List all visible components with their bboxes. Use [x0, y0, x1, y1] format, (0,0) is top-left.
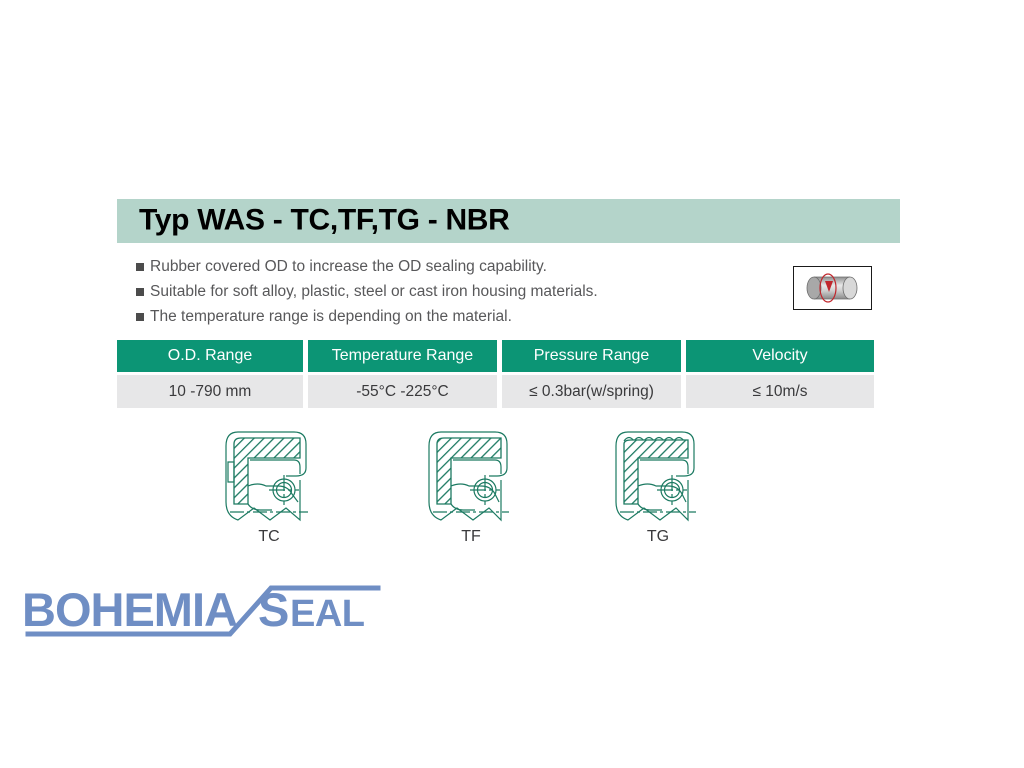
square-bullet-icon: [136, 288, 144, 296]
rotating-shaft-icon: [793, 266, 872, 310]
table-cell: -55°C -225°C: [308, 375, 497, 408]
seal-diagram-tc: TC: [208, 424, 330, 550]
list-item-label: The temperature range is depending on th…: [150, 307, 512, 326]
table-column-velocity: Velocity ≤ 10m/s: [686, 340, 874, 408]
column-header: Pressure Range: [502, 340, 681, 372]
seal-label-tf: TF: [415, 528, 527, 546]
column-header: O.D. Range: [117, 340, 303, 372]
title-band: Typ WAS - TC,TF,TG - NBR: [117, 199, 900, 243]
seal-diagram-tg: TG: [602, 424, 714, 550]
table-cell: 10 -790 mm: [117, 375, 303, 408]
table-column-od-range: O.D. Range 10 -790 mm: [117, 340, 303, 408]
table-column-pressure-range: Pressure Range ≤ 0.3bar(w/spring): [502, 340, 681, 408]
square-bullet-icon: [136, 263, 144, 271]
table-cell: ≤ 0.3bar(w/spring): [502, 375, 681, 408]
list-item: Rubber covered OD to increase the OD sea…: [136, 257, 756, 278]
page-title: Typ WAS - TC,TF,TG - NBR: [139, 203, 510, 237]
logo-primary-text: BOHEMIA: [22, 583, 237, 636]
column-header: Velocity: [686, 340, 874, 372]
seal-diagram-tf: TF: [415, 424, 527, 550]
list-item-label: Rubber covered OD to increase the OD sea…: [150, 257, 547, 276]
list-item-label: Suitable for soft alloy, plastic, steel …: [150, 282, 598, 301]
column-header: Temperature Range: [308, 340, 497, 372]
table-cell: ≤ 10m/s: [686, 375, 874, 408]
square-bullet-icon: [136, 313, 144, 321]
logo-secondary-text-rest: EAL: [290, 593, 365, 635]
logo-secondary-text: S: [258, 583, 288, 636]
specification-table: O.D. Range 10 -790 mm Temperature Range …: [117, 340, 874, 408]
list-item: Suitable for soft alloy, plastic, steel …: [136, 282, 756, 303]
seal-label-tc: TC: [208, 528, 330, 546]
list-item: The temperature range is depending on th…: [136, 307, 756, 328]
table-column-temperature-range: Temperature Range -55°C -225°C: [308, 340, 497, 408]
seal-label-tg: TG: [602, 528, 714, 546]
feature-list: Rubber covered OD to increase the OD sea…: [136, 257, 756, 332]
bohemia-seal-logo: BOHEMIA S EAL: [18, 578, 418, 648]
